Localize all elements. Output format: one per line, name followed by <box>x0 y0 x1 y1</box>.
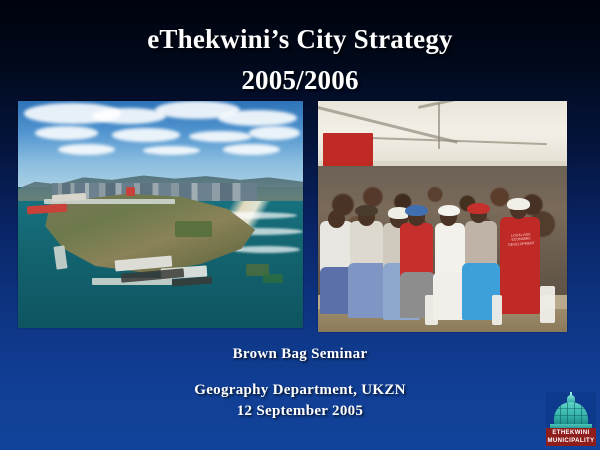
durban-harbour-aerial-photo <box>18 101 303 328</box>
seminar-label: Brown Bag Seminar <box>0 346 600 363</box>
green-roof <box>263 274 283 283</box>
sports-field <box>175 221 212 237</box>
cloud <box>112 128 180 142</box>
logo-line-1: ETHEKWINI <box>552 429 589 437</box>
person-skirt <box>348 263 388 318</box>
cloud <box>189 131 252 142</box>
head-wrap <box>405 205 427 217</box>
harbour-scene <box>18 101 303 328</box>
date-label: 12 September 2005 <box>0 403 600 420</box>
white-head-wrap <box>507 198 529 210</box>
white-hat <box>438 205 460 217</box>
cloud <box>218 110 298 126</box>
slide-title-line-1: eThekwini’s City Strategy <box>0 22 600 57</box>
logo-line-2: MUNICIPALITY <box>547 437 594 445</box>
slide-title: eThekwini’s City Strategy 2005/2006 <box>0 22 600 97</box>
red-dress-print: LOCAL AGEECONOMICDEVELOPMENT <box>504 232 537 247</box>
ethekwini-municipality-logo: ETHEKWINI MUNICIPALITY <box>546 392 596 446</box>
meeting-scene: LOCAL AGEECONOMICDEVELOPMENT <box>318 101 567 332</box>
tent-pole <box>438 103 440 149</box>
logo-text-band: ETHEKWINI MUNICIPALITY <box>546 428 596 446</box>
city-hall-dome-icon <box>546 394 596 428</box>
slide-title-line-2: 2005/2006 <box>0 63 600 98</box>
plastic-chair <box>540 286 555 323</box>
cloud <box>249 126 300 140</box>
plastic-chair <box>425 295 437 325</box>
cloud <box>35 126 98 140</box>
department-label: Geography Department, UKZN <box>0 382 600 399</box>
red-hat <box>467 203 489 215</box>
dome-shape <box>554 402 588 425</box>
plastic-chair <box>492 295 502 325</box>
presentation-slide: eThekwini’s City Strategy 2005/2006 <box>0 0 600 450</box>
red-tank <box>126 187 135 196</box>
head-wrap <box>355 205 377 217</box>
community-meeting-photo: LOCAL AGEECONOMICDEVELOPMENT <box>318 101 567 332</box>
